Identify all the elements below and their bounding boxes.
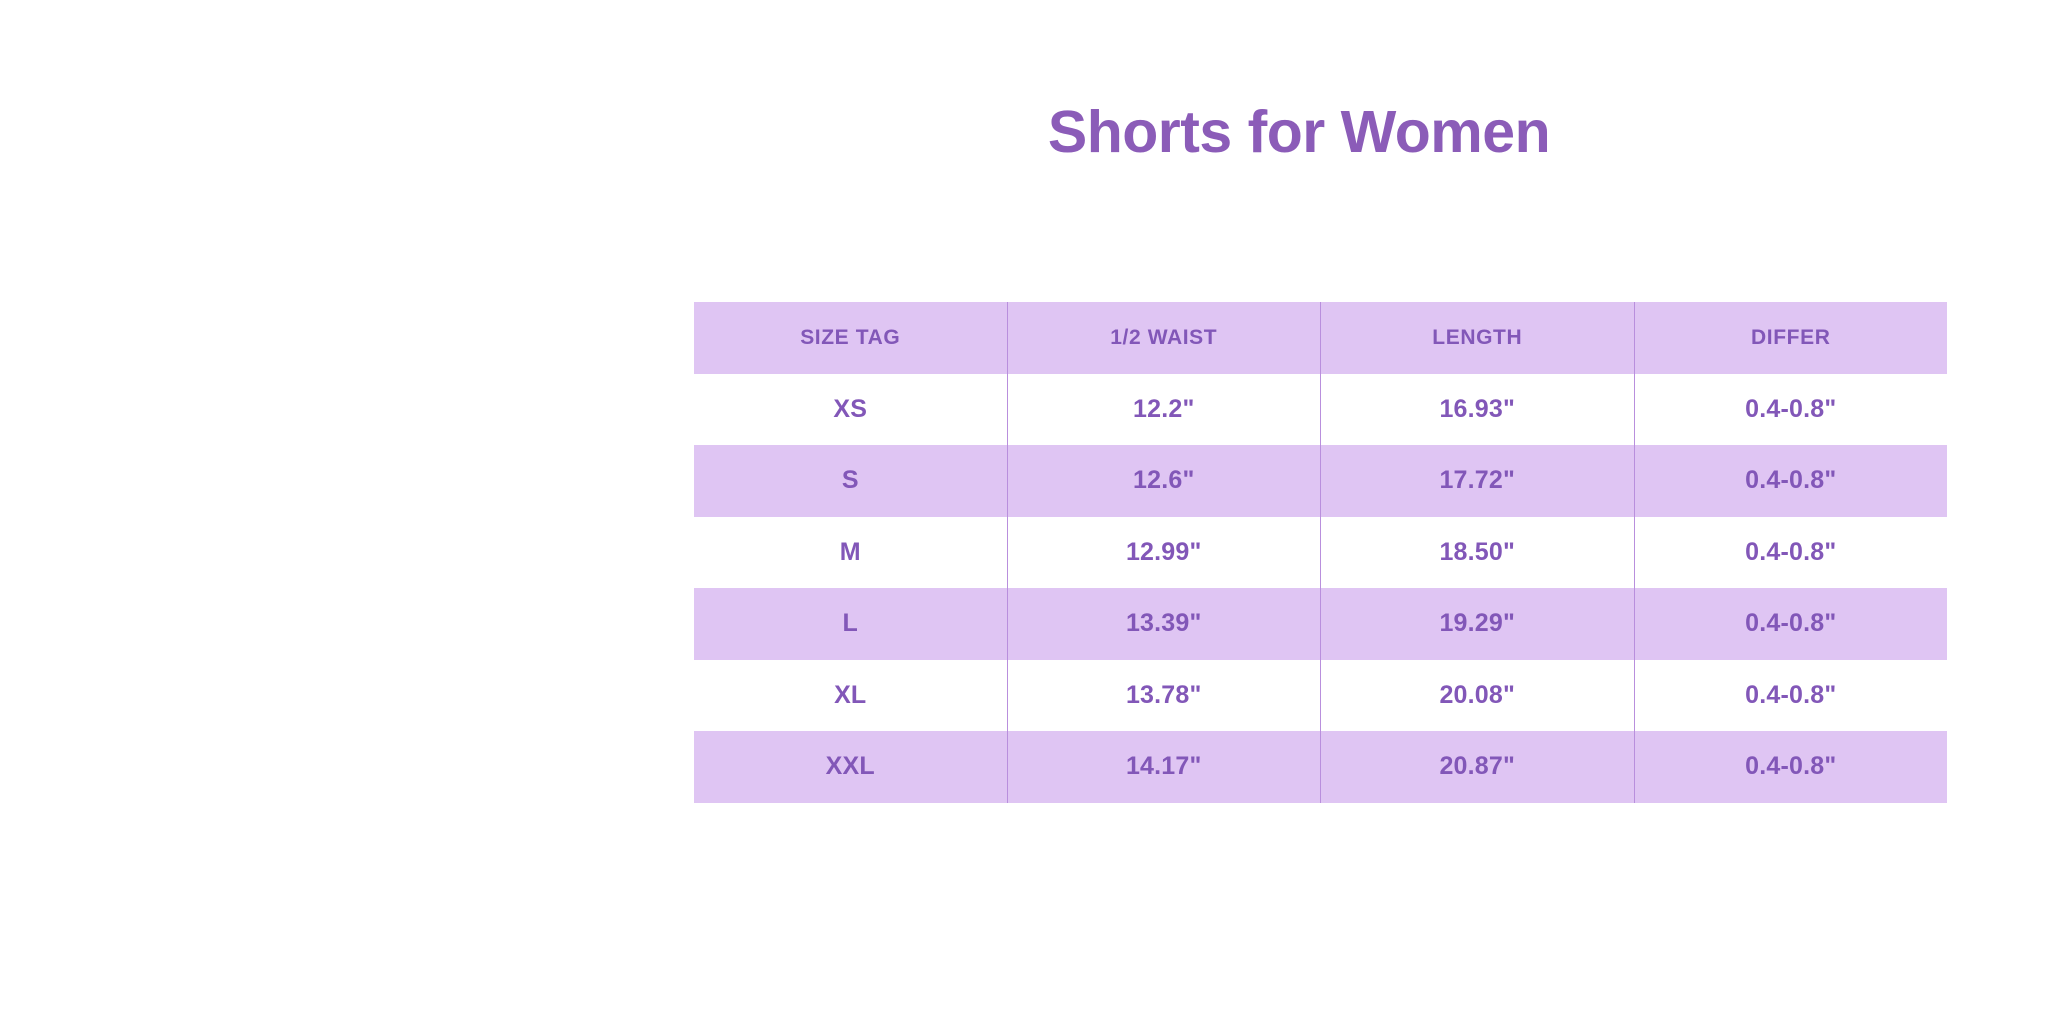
cell-differ: 0.4-0.8" <box>1634 660 1947 732</box>
cell-half-waist: 13.39" <box>1007 588 1321 660</box>
table-row: S 12.6" 17.72" 0.4-0.8" <box>694 445 1947 517</box>
cell-half-waist: 12.6" <box>1007 445 1321 517</box>
table-row: XS 12.2" 16.93" 0.4-0.8" <box>694 374 1947 446</box>
cell-size-tag: XL <box>694 660 1007 732</box>
column-header-differ: DIFFER <box>1634 302 1947 374</box>
cell-size-tag: M <box>694 517 1007 589</box>
cell-size-tag: XXL <box>694 731 1007 803</box>
table-row: XXL 14.17" 20.87" 0.4-0.8" <box>694 731 1947 803</box>
cell-differ: 0.4-0.8" <box>1634 445 1947 517</box>
cell-half-waist: 14.17" <box>1007 731 1321 803</box>
cell-differ: 0.4-0.8" <box>1634 588 1947 660</box>
table-row: M 12.99" 18.50" 0.4-0.8" <box>694 517 1947 589</box>
table-header-row: SIZE TAG 1/2 WAIST LENGTH DIFFER <box>694 302 1947 374</box>
size-chart-body: XS 12.2" 16.93" 0.4-0.8" S 12.6" 17.72" … <box>694 374 1947 803</box>
cell-half-waist: 12.99" <box>1007 517 1321 589</box>
cell-half-waist: 13.78" <box>1007 660 1321 732</box>
cell-differ: 0.4-0.8" <box>1634 517 1947 589</box>
cell-size-tag: S <box>694 445 1007 517</box>
cell-differ: 0.4-0.8" <box>1634 731 1947 803</box>
cell-size-tag: XS <box>694 374 1007 446</box>
cell-length: 19.29" <box>1321 588 1635 660</box>
cell-size-tag: L <box>694 588 1007 660</box>
cell-length: 20.87" <box>1321 731 1635 803</box>
cell-half-waist: 12.2" <box>1007 374 1321 446</box>
table-row: XL 13.78" 20.08" 0.4-0.8" <box>694 660 1947 732</box>
page-title: Shorts for Women <box>694 102 1904 164</box>
column-header-size-tag: SIZE TAG <box>694 302 1007 374</box>
size-chart-page: Shorts for Women SIZE TAG 1/2 WAIST LENG… <box>0 0 2048 1024</box>
cell-differ: 0.4-0.8" <box>1634 374 1947 446</box>
column-header-half-waist: 1/2 WAIST <box>1007 302 1321 374</box>
column-header-length: LENGTH <box>1321 302 1635 374</box>
cell-length: 18.50" <box>1321 517 1635 589</box>
cell-length: 17.72" <box>1321 445 1635 517</box>
size-chart-container: SIZE TAG 1/2 WAIST LENGTH DIFFER XS 12.2… <box>694 302 1944 803</box>
cell-length: 16.93" <box>1321 374 1635 446</box>
table-row: L 13.39" 19.29" 0.4-0.8" <box>694 588 1947 660</box>
size-chart-header: SIZE TAG 1/2 WAIST LENGTH DIFFER <box>694 302 1947 374</box>
cell-length: 20.08" <box>1321 660 1635 732</box>
size-chart-table: SIZE TAG 1/2 WAIST LENGTH DIFFER XS 12.2… <box>694 302 1947 803</box>
